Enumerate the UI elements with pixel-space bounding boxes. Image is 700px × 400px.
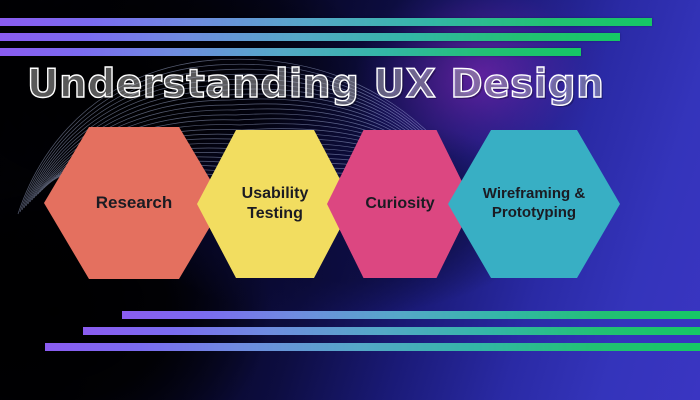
page-title: Understanding UX Design (27, 62, 604, 107)
hexagon-usability-testing-label: UsabilityTesting (238, 184, 313, 224)
hexagon-curiosity-label: Curiosity (361, 194, 438, 214)
bottom-bar-2 (83, 327, 700, 335)
top-bar-3 (0, 48, 581, 56)
hexagon-research-label: Research (92, 192, 177, 213)
hexagon-wireframing-prototyping-label: Wireframing &Prototyping (479, 185, 589, 223)
bottom-bar-1 (122, 311, 700, 319)
top-bar-2 (0, 33, 620, 41)
bottom-bar-3 (45, 343, 700, 351)
slide-canvas: Understanding UX Design Research Usabili… (0, 0, 700, 400)
top-bar-1 (0, 18, 652, 26)
